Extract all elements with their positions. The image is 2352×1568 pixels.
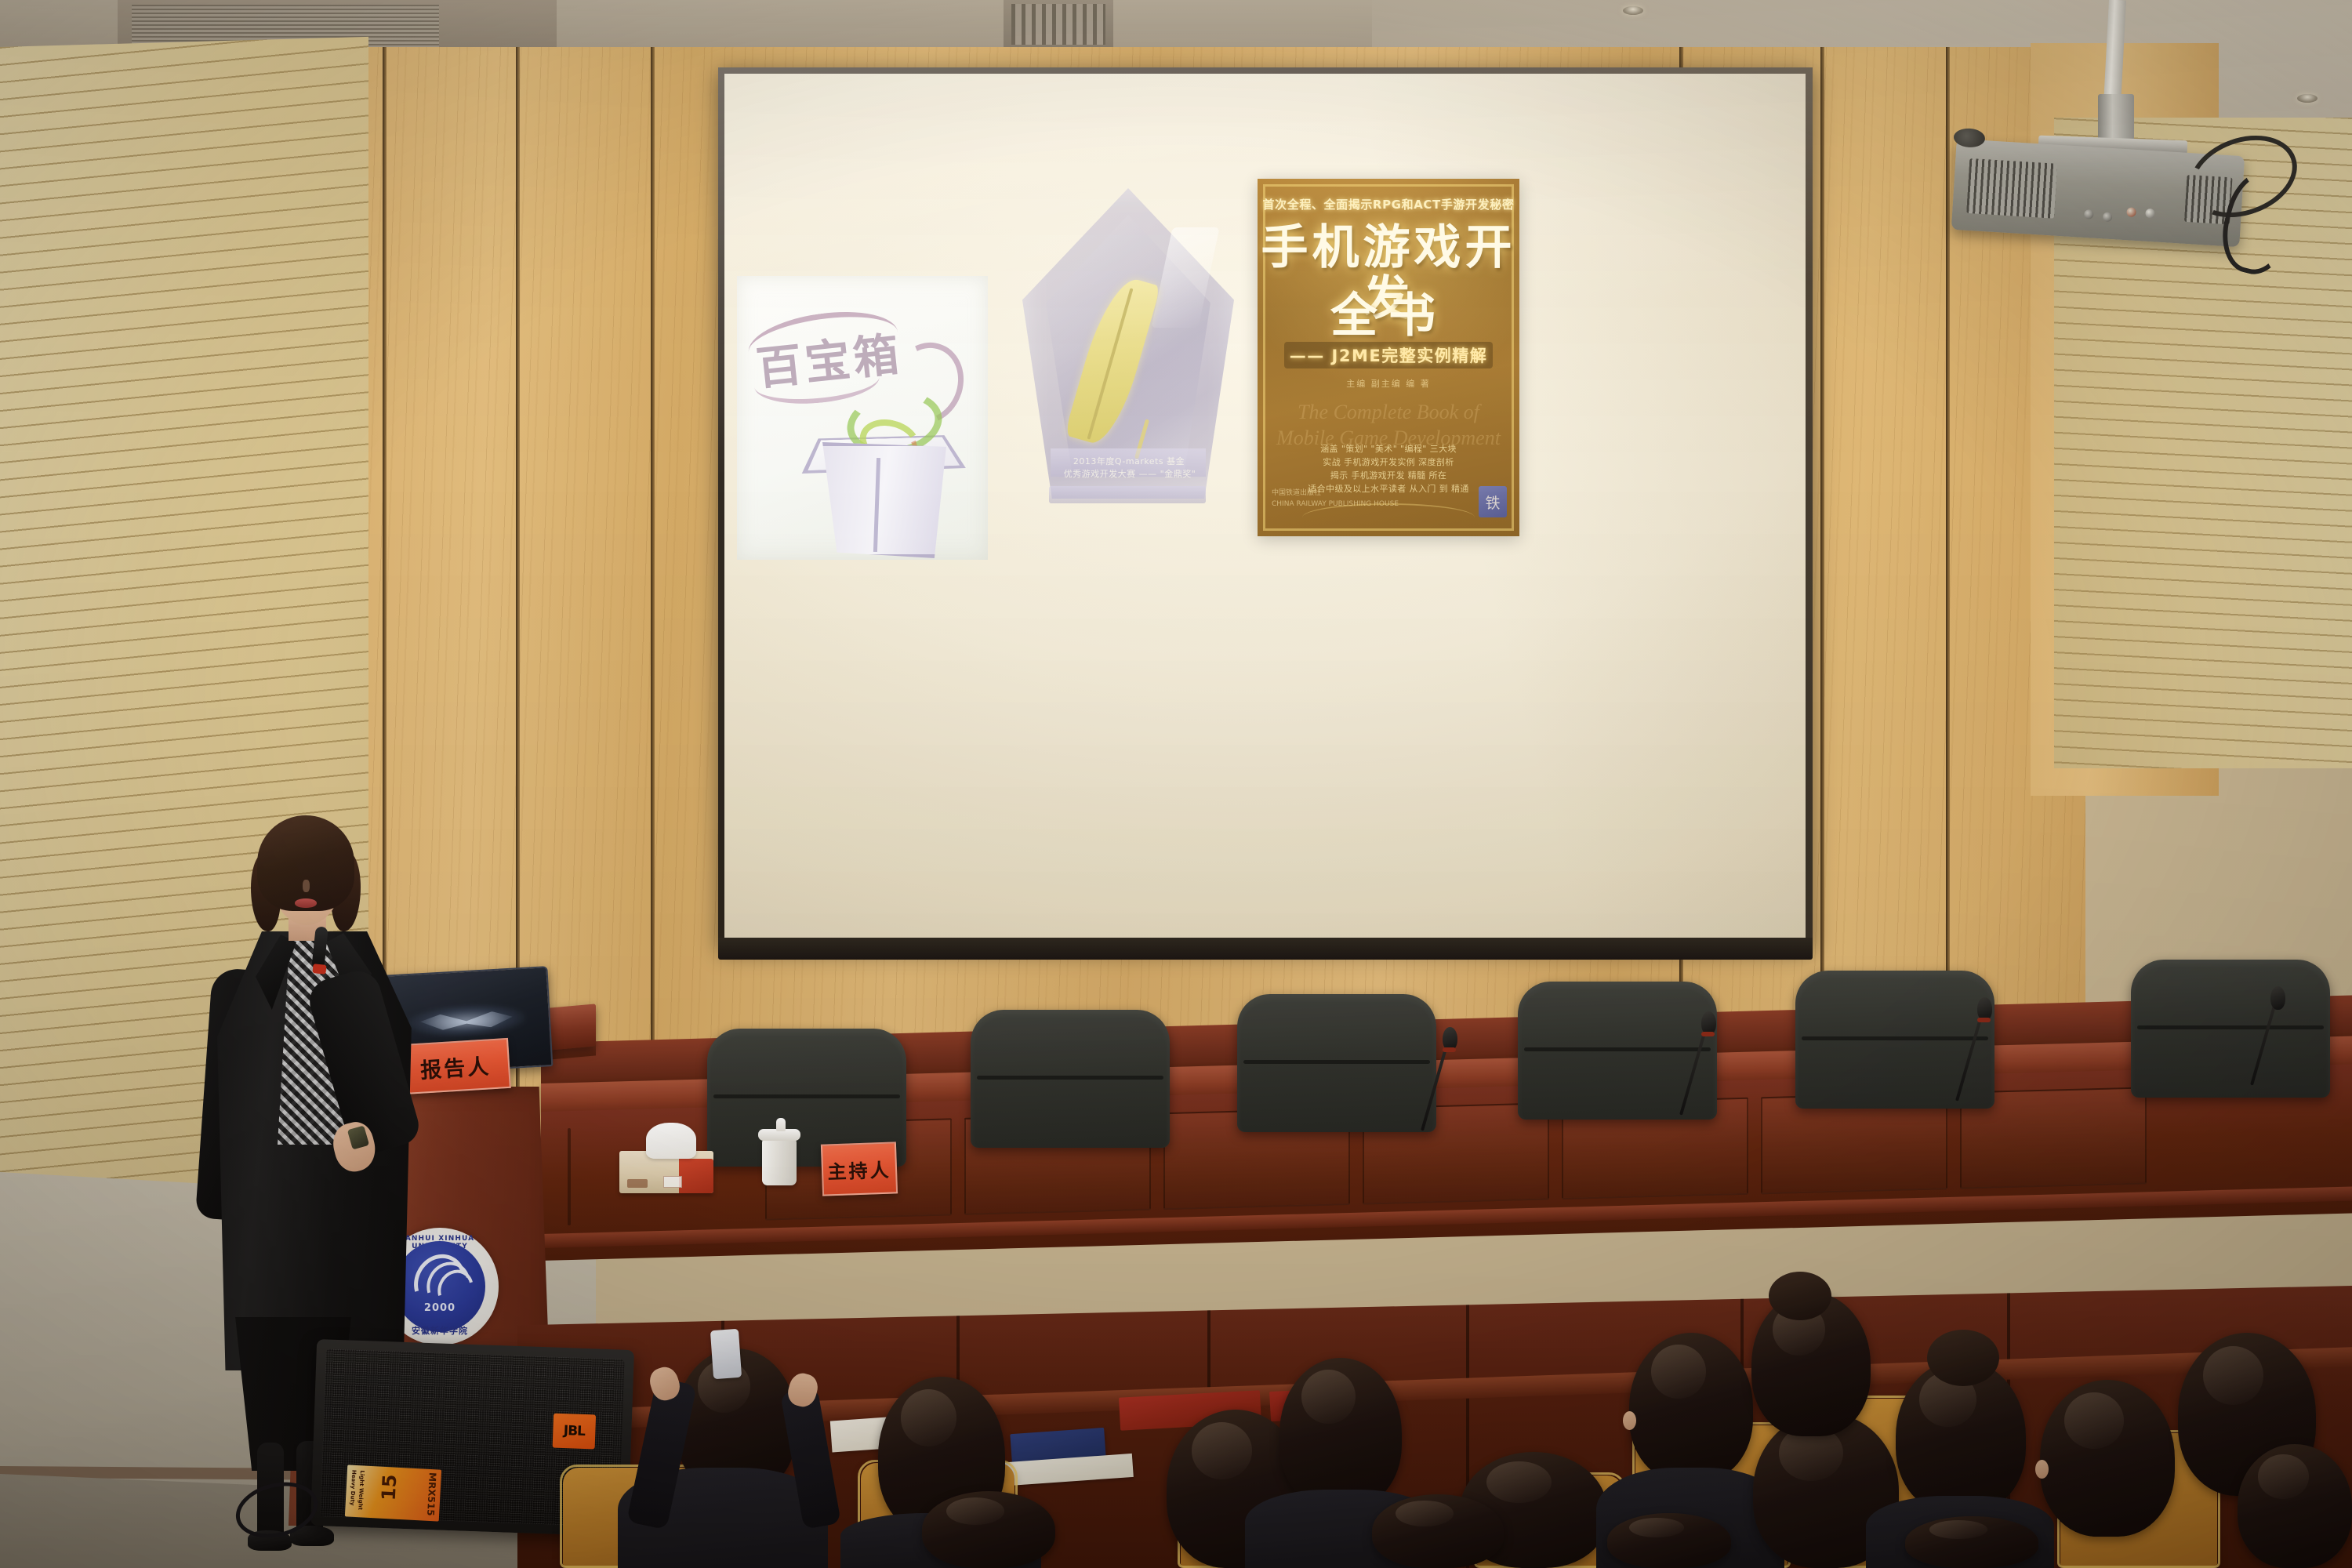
tissue-sheet-icon (646, 1123, 696, 1159)
hair-highlight (2203, 1346, 2263, 1405)
book-authors: 主编 副主编 编 著 (1258, 377, 1519, 390)
mic-indicator-ring (1977, 1018, 1991, 1022)
slide-book-cover: 首次全程、全面揭示RPG和ACT手游开发秘密 手机游戏开发 全书 —— J2ME… (1258, 179, 1519, 536)
audience-head (2040, 1380, 2175, 1537)
water-cup (762, 1138, 797, 1185)
panel-chair[interactable] (1237, 994, 1436, 1132)
audience-ear (2035, 1460, 2049, 1479)
hair-highlight (1301, 1370, 1356, 1424)
logo-box-body-icon (818, 442, 950, 558)
tissue-box-red-panel (679, 1159, 713, 1193)
screen-bottom-bar (718, 938, 1813, 960)
audience-ear (1623, 1411, 1636, 1430)
slide-crystal-award: 2013年度Q-markets 基金 优秀游戏开发大赛 —— "金鼎奖" (1008, 183, 1251, 535)
cup-lid-knob-icon (776, 1118, 786, 1131)
award-line-2: 优秀游戏开发大赛 —— "金鼎奖" (1040, 467, 1220, 480)
downlight-icon (1623, 6, 1643, 15)
audience-hair-bun (1927, 1330, 1999, 1386)
book-tagline: 首次全程、全面揭示RPG和ACT手游开发秘密 (1258, 196, 1519, 212)
hair-highlight (1629, 1518, 1684, 1537)
hair-highlight (2258, 1454, 2308, 1499)
presenter-hair-top (257, 815, 354, 911)
logo-text: 百宝箱 (753, 318, 905, 398)
publisher-badge-icon: 铁 (1479, 486, 1507, 517)
audience-head (922, 1491, 1055, 1568)
hair-highlight (1651, 1345, 1706, 1398)
panel-chair[interactable] (971, 1010, 1170, 1148)
hair-highlight (2064, 1392, 2124, 1449)
award-line-1: 2013年度Q-markets 基金 (1051, 455, 1207, 467)
ac-vent-small-icon (1004, 0, 1113, 49)
speaker-spec-sticker: Light Weight Heavy Duty 15 MRX515 (345, 1465, 441, 1521)
crystal-base (1049, 486, 1206, 503)
projector-port-icon (2084, 209, 2094, 220)
hair-highlight (946, 1497, 1005, 1525)
wood-seam (651, 47, 655, 1200)
tissue-box (619, 1151, 713, 1193)
projector-vent-icon (1966, 158, 2057, 219)
projector-port-icon (2145, 209, 2155, 219)
panel-chair[interactable] (1795, 971, 1994, 1109)
hair-highlight (1396, 1501, 1454, 1527)
downlight-icon (2297, 94, 2318, 103)
speaker-model-label: MRX515 (425, 1472, 438, 1516)
audience-head (1607, 1513, 1731, 1568)
book-title-line-2: 全书 (1258, 278, 1519, 346)
panel-chair[interactable] (2131, 960, 2330, 1098)
nameplate-host: 主持人 (821, 1142, 898, 1196)
hair-highlight (901, 1389, 956, 1446)
mic-red-indicator (312, 964, 326, 975)
gooseneck-mic-head[interactable] (2270, 986, 2285, 1010)
speaker-size-label: 15 (378, 1474, 401, 1501)
audience-hair-bun (1769, 1272, 1831, 1320)
tissue-box-label (663, 1176, 682, 1188)
speaker-spec-desc: Light Weight Heavy Duty (347, 1470, 366, 1511)
projector-port-icon (2126, 207, 2136, 217)
audience-head (1372, 1494, 1504, 1568)
projector-port-icon (2103, 212, 2113, 222)
book-ornament (1302, 503, 1475, 532)
auditorium-scene: 百宝箱 2013年度Q-markets 基金 优秀游戏开发大赛 —— "金鼎奖"… (0, 0, 2352, 1568)
presenter-nose (303, 880, 310, 892)
audience-smartphone[interactable] (710, 1329, 742, 1379)
tissue-box-label (627, 1179, 648, 1188)
book-subtitle: —— J2ME完整实例精解 (1284, 342, 1493, 368)
nameplate-speaker: 报告人 (400, 1038, 511, 1094)
audience-head (2238, 1444, 2352, 1568)
slide-logo-baibaoxiang: 百宝箱 (737, 276, 988, 560)
audience-head (1279, 1358, 1402, 1508)
audience-head (1629, 1333, 1753, 1482)
hair-highlight (1929, 1520, 1988, 1539)
audience-head (1905, 1516, 2038, 1568)
jbl-logo-icon: JBL (553, 1414, 597, 1450)
mic-indicator-ring (1443, 1047, 1456, 1052)
presenter-mouth (295, 898, 317, 908)
hair-highlight (1192, 1422, 1252, 1479)
mic-indicator-ring (1701, 1032, 1715, 1036)
hair-highlight (1486, 1461, 1552, 1503)
